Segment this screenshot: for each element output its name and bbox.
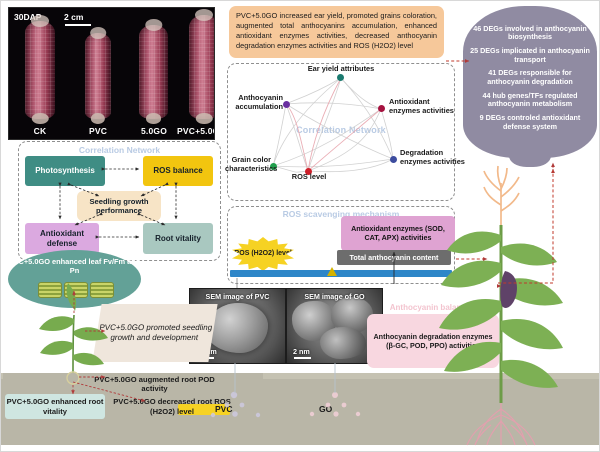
- anthocyanin-degradation-box: Anthocyanin degradation enzymes (β-GC, P…: [367, 314, 499, 368]
- soil-label-go: GO: [319, 404, 332, 414]
- seedling-growth-box: PVC+5.0GO promoted seedling growth and d…: [92, 304, 217, 362]
- antioxidant-enzymes-box: Antioxidant enzymes (SOD, CAT, APX) acti…: [341, 216, 455, 251]
- summary-text-box: PVC+5.0GO increased ear yield, promoted …: [229, 6, 444, 58]
- go-particle-c: [320, 327, 366, 359]
- leaf-performance-oval: PVC+5.0GO enhanced leaf Fv/Fm and Pn: [8, 250, 141, 308]
- leaf-performance-text: PVC+5.0GO enhanced leaf Fv/Fm and Pn: [8, 257, 141, 276]
- correlation-network-left-title: Correlation Network: [18, 145, 221, 155]
- graphical-abstract-figure: 30DAP 2 cm CK PVC 5.0GO PVC+5.0GO PVC+5.…: [0, 0, 600, 452]
- ear-tip: [90, 27, 106, 39]
- ear-ck: [25, 21, 55, 119]
- total-anthocyanin-bar: Total anthocyanin content: [337, 250, 451, 265]
- ear-pvc-50go: [189, 15, 215, 119]
- ear-50go: [139, 25, 168, 119]
- ear-tip: [31, 15, 49, 27]
- soil-label-pvc: PVC: [215, 404, 232, 414]
- deg-summary-blob: 46 DEGs involved in anthocyanin biosynth…: [463, 6, 597, 158]
- deg-line-5: 9 DEGs controled antioxidant defense sys…: [467, 114, 593, 131]
- box-photosynthesis: Photosynthesis: [25, 156, 105, 186]
- maize-ear-photograph: 30DAP 2 cm CK PVC 5.0GO PVC+5.0GO: [8, 7, 215, 140]
- ear-label-ck: CK: [25, 126, 55, 136]
- ear-base: [196, 113, 213, 124]
- deg-line-3: 41 DEGs responsible for anthocyanin degr…: [467, 69, 593, 86]
- box-ros-balance: ROS balance: [143, 156, 213, 186]
- chloroplast-icon: [38, 282, 62, 298]
- ear-tip: [145, 19, 162, 31]
- root-vitality-label: PVC+5.0GO enhanced root vitality: [5, 394, 105, 419]
- box-antioxidant-defense: Antioxidant defense: [25, 223, 99, 254]
- ear-pvc: [85, 33, 111, 119]
- sem-go-scale-label: 2 nm: [293, 347, 310, 356]
- node-label-antioxidant-enzymes: Antioxidant enzymes activities: [389, 98, 461, 116]
- ear-tip: [195, 9, 213, 21]
- blue-baseline-bar: [230, 270, 452, 277]
- ear-label-50go: 5.0GO: [135, 126, 173, 136]
- node-label-anthocyanin-accumulation: Anthocyanin accumulation: [227, 94, 283, 112]
- ear-base: [32, 113, 49, 124]
- deg-line-4: 44 hub genes/TFs regulated anthocyanin m…: [467, 92, 593, 109]
- chloroplast-icon: [64, 282, 88, 298]
- node-label-ros-level: ROS level: [281, 173, 337, 182]
- sem-pvc-caption: SEM image of PVC: [190, 292, 285, 301]
- node-ear-yield: [337, 74, 344, 81]
- ear-label-pvc-50go: PVC+5.0GO: [177, 126, 215, 136]
- anthocyanin-balance-title: Anthocyanin balance: [367, 303, 493, 312]
- deg-line-2: 25 DEGs implicated in anthocyanin transp…: [467, 47, 593, 64]
- root-pod-activity-label: PVC+5.0GO augmented root POD activity: [87, 375, 222, 394]
- ear-label-pvc: PVC: [83, 126, 113, 136]
- node-antioxidant-enzymes: [378, 105, 385, 112]
- chloroplast-icon: [90, 282, 114, 298]
- deg-line-1: 46 DEGs involved in anthocyanin biosynth…: [467, 25, 593, 42]
- box-root-vitality: Root vitality: [143, 223, 213, 254]
- scale-bar: [65, 24, 91, 26]
- node-label-degradation-enzymes: Degradation enzymes activities: [400, 149, 474, 167]
- node-label-grain-color: Grain color characteristics: [225, 156, 271, 174]
- ear-base: [146, 113, 162, 124]
- correlation-network-panel-right: Correlation Network: [227, 63, 455, 201]
- correlation-network-right-title: Correlation Network: [228, 125, 454, 135]
- node-label-ear-yield: Ear yield attributes: [293, 65, 389, 74]
- ear-base: [91, 113, 105, 124]
- sem-go-caption: SEM image of GO: [287, 292, 382, 301]
- node-anthocyanin-accumulation: [283, 101, 290, 108]
- node-degradation-enzymes: [390, 156, 397, 163]
- sem-go-scale-bar: [294, 357, 311, 359]
- scale-bar-label: 2 cm: [64, 12, 83, 22]
- box-seedling-growth: Seedling growth performance: [77, 191, 161, 221]
